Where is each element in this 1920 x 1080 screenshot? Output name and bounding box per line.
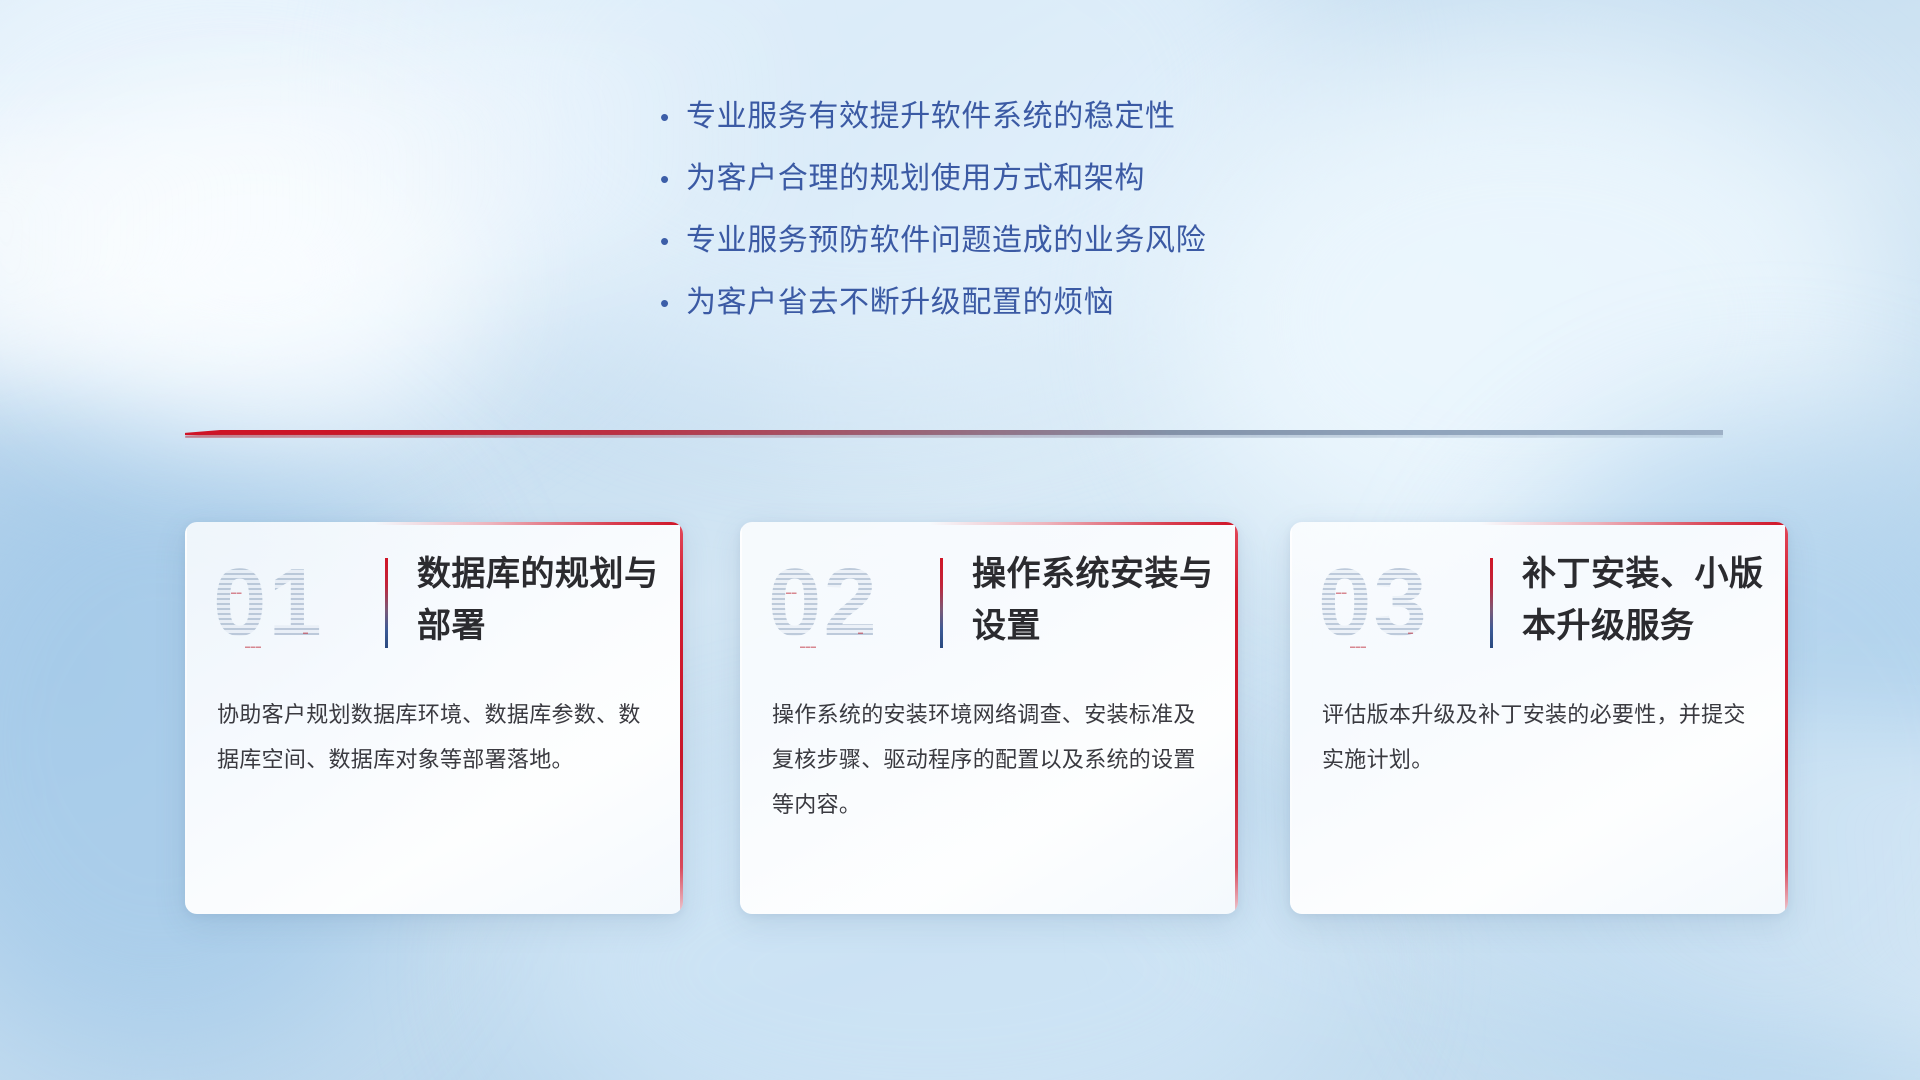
section-divider — [185, 430, 1723, 439]
bullet-item-label: 专业服务预防软件问题造成的业务风险 — [686, 220, 1206, 262]
card-title-divider — [940, 558, 943, 648]
card-title: 操作系统安装与设置 — [972, 548, 1222, 652]
bullet-item-label: 为客户省去不断升级配置的烦恼 — [686, 282, 1114, 324]
card-description: 协助客户规划数据库环境、数据库参数、数据库空间、数据库对象等部署落地。 — [217, 692, 653, 782]
bullet-marker-icon: • — [660, 158, 686, 200]
card-number-watermark: 01 — [213, 548, 324, 658]
card-header: 01 01 ▬▬ ▬ ▬▬▬ 数据库的规划与部署 — [185, 544, 683, 664]
bullet-item-label: 专业服务有效提升软件系统的稳定性 — [686, 96, 1176, 138]
service-card[interactable]: 02 02 ▬▬ ▬ ▬▬▬ 操作系统安装与设置 操作系统的安装环境网络调查、安… — [740, 522, 1238, 914]
card-number-watermark: 03 — [1318, 548, 1429, 658]
card-title-divider — [1490, 558, 1493, 648]
card-top-accent-border — [374, 522, 683, 525]
bullet-item: • 为客户合理的规划使用方式和架构 — [660, 158, 1420, 200]
card-top-accent-border — [1479, 522, 1788, 525]
watermark-glitch-tick: ▬▬▬ — [245, 644, 262, 650]
card-description: 评估版本升级及补丁安装的必要性，并提交实施计划。 — [1322, 692, 1758, 782]
benefits-bullet-list: • 专业服务有效提升软件系统的稳定性 • 为客户合理的规划使用方式和架构 • 专… — [660, 96, 1420, 344]
watermark-glitch-tick: ▬▬ — [231, 590, 242, 596]
watermark-glitch-tick: ▬ — [303, 630, 309, 636]
card-top-accent-border — [929, 522, 1238, 525]
card-title: 补丁安装、小版本升级服务 — [1522, 548, 1772, 652]
service-card-list: 01 01 ▬▬ ▬ ▬▬▬ 数据库的规划与部署 协助客户规划数据库环境、数据库… — [0, 522, 1920, 922]
card-number-watermark: 02 — [768, 548, 879, 658]
card-header: 02 02 ▬▬ ▬ ▬▬▬ 操作系统安装与设置 — [740, 544, 1238, 664]
card-header: 03 03 ▬▬ ▬ ▬▬▬ 补丁安装、小版本升级服务 — [1290, 544, 1788, 664]
bullet-item: • 为客户省去不断升级配置的烦恼 — [660, 282, 1420, 324]
divider-line-shadow — [185, 434, 1723, 438]
bullet-marker-icon: • — [660, 282, 686, 324]
watermark-glitch-tick: ▬ — [1408, 630, 1414, 636]
watermark-glitch-tick: ▬▬▬ — [800, 644, 817, 650]
bullet-item: • 专业服务有效提升软件系统的稳定性 — [660, 96, 1420, 138]
card-title: 数据库的规划与部署 — [417, 548, 667, 652]
bullet-marker-icon: • — [660, 96, 686, 138]
watermark-glitch-tick: ▬▬ — [786, 590, 797, 596]
watermark-glitch-tick: ▬▬ — [1336, 590, 1347, 596]
bullet-item-label: 为客户合理的规划使用方式和架构 — [686, 158, 1145, 200]
bullet-item: • 专业服务预防软件问题造成的业务风险 — [660, 220, 1420, 262]
service-card[interactable]: 03 03 ▬▬ ▬ ▬▬▬ 补丁安装、小版本升级服务 评估版本升级及补丁安装的… — [1290, 522, 1788, 914]
card-title-divider — [385, 558, 388, 648]
watermark-glitch-tick: ▬ — [858, 630, 864, 636]
watermark-glitch-tick: ▬▬▬ — [1350, 644, 1367, 650]
bullet-marker-icon: • — [660, 220, 686, 262]
card-description: 操作系统的安装环境网络调查、安装标准及复核步骤、驱动程序的配置以及系统的设置等内… — [772, 692, 1208, 827]
service-card[interactable]: 01 01 ▬▬ ▬ ▬▬▬ 数据库的规划与部署 协助客户规划数据库环境、数据库… — [185, 522, 683, 914]
